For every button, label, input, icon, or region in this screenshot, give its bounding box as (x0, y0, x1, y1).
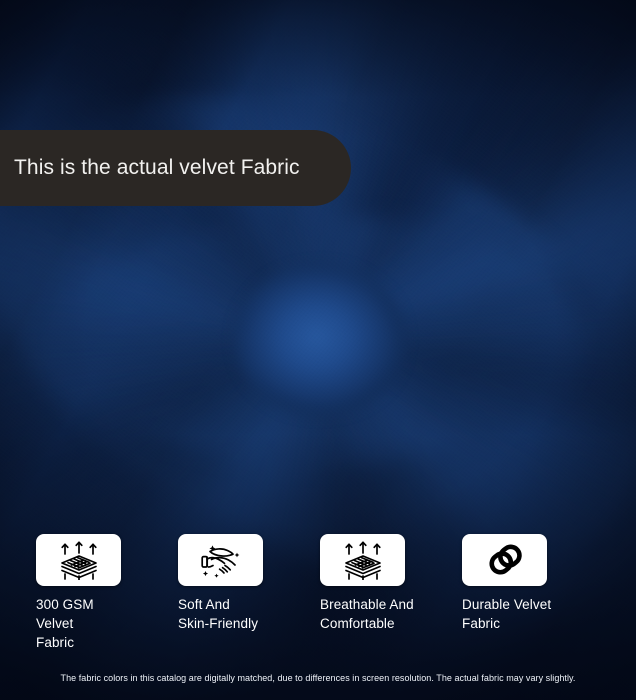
layered-fabric-arrows-icon (336, 540, 390, 580)
feature-icon-card (178, 534, 263, 586)
feature-icon-card (320, 534, 405, 586)
feature-icon-card (36, 534, 121, 586)
chain-link-icon (482, 540, 528, 580)
feature-label: 300 GSM Velvet Fabric (36, 595, 164, 652)
product-image-card: This is the actual velvet Fabric (0, 0, 636, 700)
disclaimer-text: The fabric colors in this catalog are di… (0, 672, 636, 685)
layered-fabric-arrows-icon (52, 540, 106, 580)
feature-label: Breathable And Comfortable (320, 595, 448, 633)
feature-item-durable: Durable Velvet Fabric (462, 534, 604, 652)
feature-label: Durable Velvet Fabric (462, 595, 590, 633)
caption-text: This is the actual velvet Fabric (14, 154, 300, 182)
feature-label: Soft And Skin-Friendly (178, 595, 306, 633)
caption-banner: This is the actual velvet Fabric (0, 130, 351, 206)
feature-item-gsm: 300 GSM Velvet Fabric (36, 534, 178, 652)
soft-hand-sparkle-icon (194, 540, 248, 580)
feature-item-soft: Soft And Skin-Friendly (178, 534, 320, 652)
feature-item-breathable: Breathable And Comfortable (320, 534, 462, 652)
feature-icon-card (462, 534, 547, 586)
feature-row: 300 GSM Velvet Fabric (0, 534, 636, 652)
